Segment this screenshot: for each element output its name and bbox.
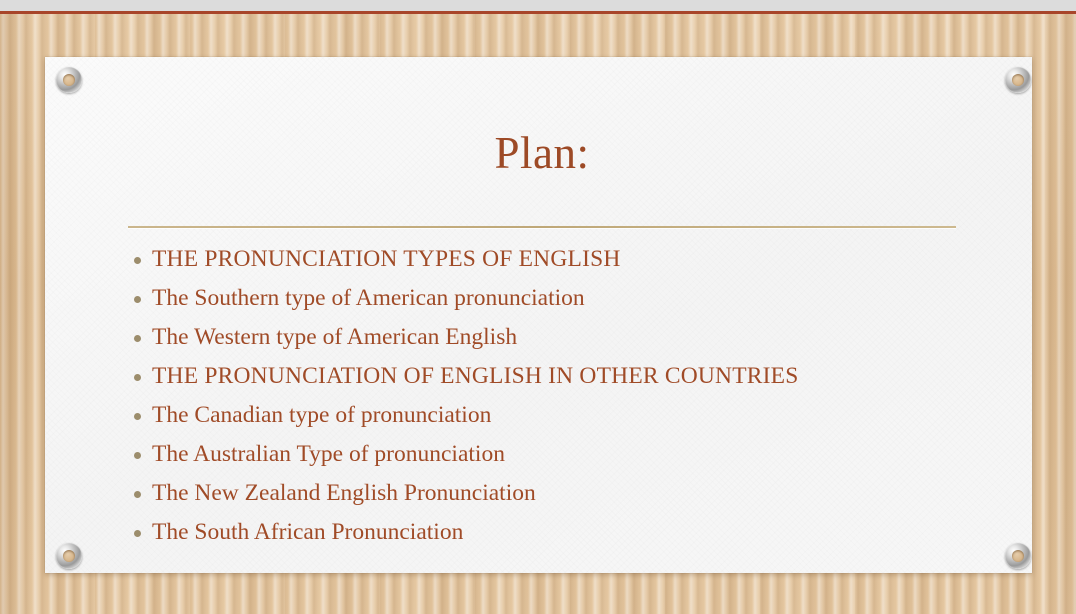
list-item-label: THE PRONUNCIATION OF ENGLISH IN OTHER CO… [152,363,799,389]
list-item: The Canadian type of pronunciation [128,396,1008,435]
bullet-dot-icon [134,374,141,381]
slide-title: Plan: [128,129,956,179]
wood-shade-right [1046,14,1076,614]
list-item-label: The South African Pronunciation [152,519,463,545]
top-gray-strip [0,0,1076,11]
list-item-label: The Australian Type of pronunciation [152,441,505,467]
bullet-list: THE PRONUNCIATION TYPES OF ENGLISH The S… [128,240,1008,552]
list-item-label: The New Zealand English Pronunciation [152,480,536,506]
grommet-icon-top-left [56,67,82,93]
list-item-label: The Western type of American English [152,324,517,350]
list-item: The Western type of American English [128,318,1008,357]
bullet-dot-icon [134,452,141,459]
presentation-slide: Plan: THE PRONUNCIATION TYPES OF ENGLISH… [0,0,1076,614]
list-item-label: THE PRONUNCIATION TYPES OF ENGLISH [152,246,621,272]
list-item: The Southern type of American pronunciat… [128,279,1008,318]
bullet-dot-icon [134,257,141,264]
list-item: The South African Pronunciation [128,513,1008,552]
bullet-dot-icon [134,335,141,342]
list-item-label: The Canadian type of pronunciation [152,402,491,428]
bullet-dot-icon [134,296,141,303]
list-item: The Australian Type of pronunciation [128,435,1008,474]
bullet-dot-icon [134,491,141,498]
title-divider [128,226,956,228]
wood-shade-left [0,14,36,614]
list-item: THE PRONUNCIATION TYPES OF ENGLISH [128,240,1008,279]
bullet-dot-icon [134,530,141,537]
bullet-dot-icon [134,413,141,420]
list-item: The New Zealand English Pronunciation [128,474,1008,513]
grommet-icon-bottom-right [1005,543,1031,569]
list-item: THE PRONUNCIATION OF ENGLISH IN OTHER CO… [128,357,1008,396]
list-item-label: The Southern type of American pronunciat… [152,285,585,311]
grommet-icon-bottom-left [56,543,82,569]
grommet-icon-top-right [1005,67,1031,93]
